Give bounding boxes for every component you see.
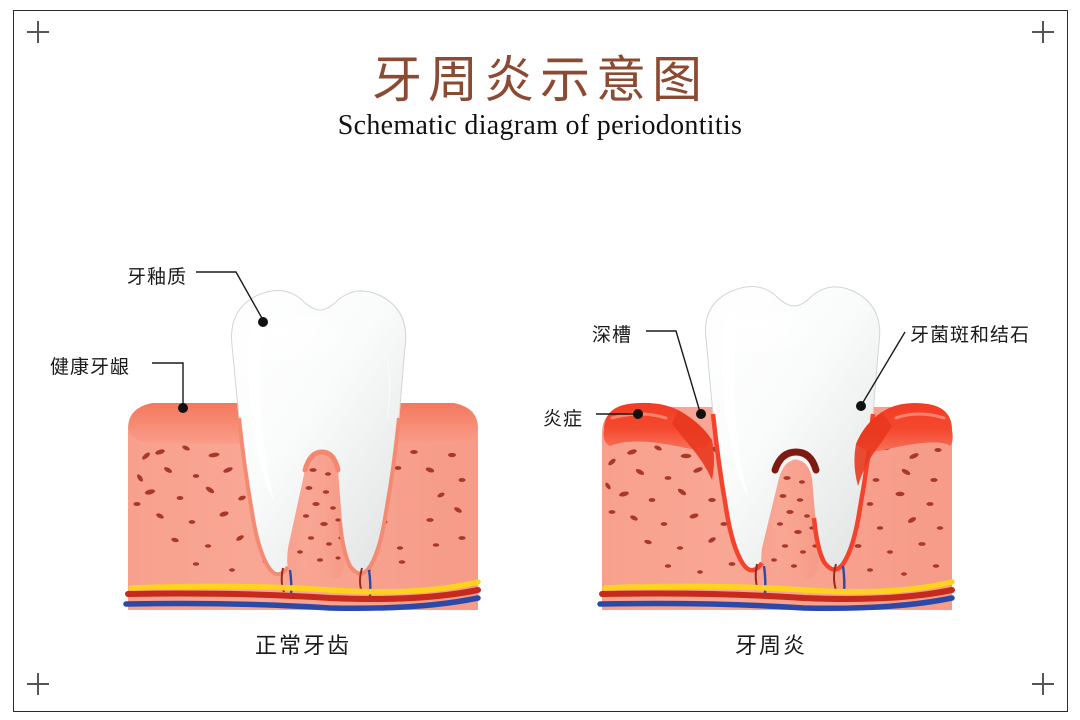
apex-vein-left-1 <box>290 570 291 596</box>
label-plaque-calculus: 牙菌斑和结石 <box>910 320 1030 347</box>
leader-dot-enamel <box>258 317 268 327</box>
caption-normal-tooth: 正常牙齿 <box>255 628 351 660</box>
leader-deep-pocket <box>646 331 700 412</box>
label-deep-pocket: 深槽 <box>592 320 632 347</box>
caption-periodontitis: 牙周炎 <box>735 628 807 660</box>
periodontitis-illustration <box>0 0 1080 720</box>
label-healthy-gum: 健康牙龈 <box>50 352 130 379</box>
panel-periodontitis <box>596 287 953 610</box>
leader-dot-inflammation <box>633 409 643 419</box>
leader-dot-plaque <box>856 401 866 411</box>
leader-dot-deep-pocket <box>696 409 706 419</box>
label-inflammation: 炎症 <box>543 404 583 431</box>
diagram-page: 牙周炎示意图 Schematic diagram of periodontiti… <box>0 0 1080 720</box>
leader-dot-healthy-gum <box>178 403 188 413</box>
label-enamel: 牙釉质 <box>127 262 187 289</box>
leader-healthy-gum <box>152 363 183 407</box>
panel-normal-tooth <box>126 272 478 610</box>
